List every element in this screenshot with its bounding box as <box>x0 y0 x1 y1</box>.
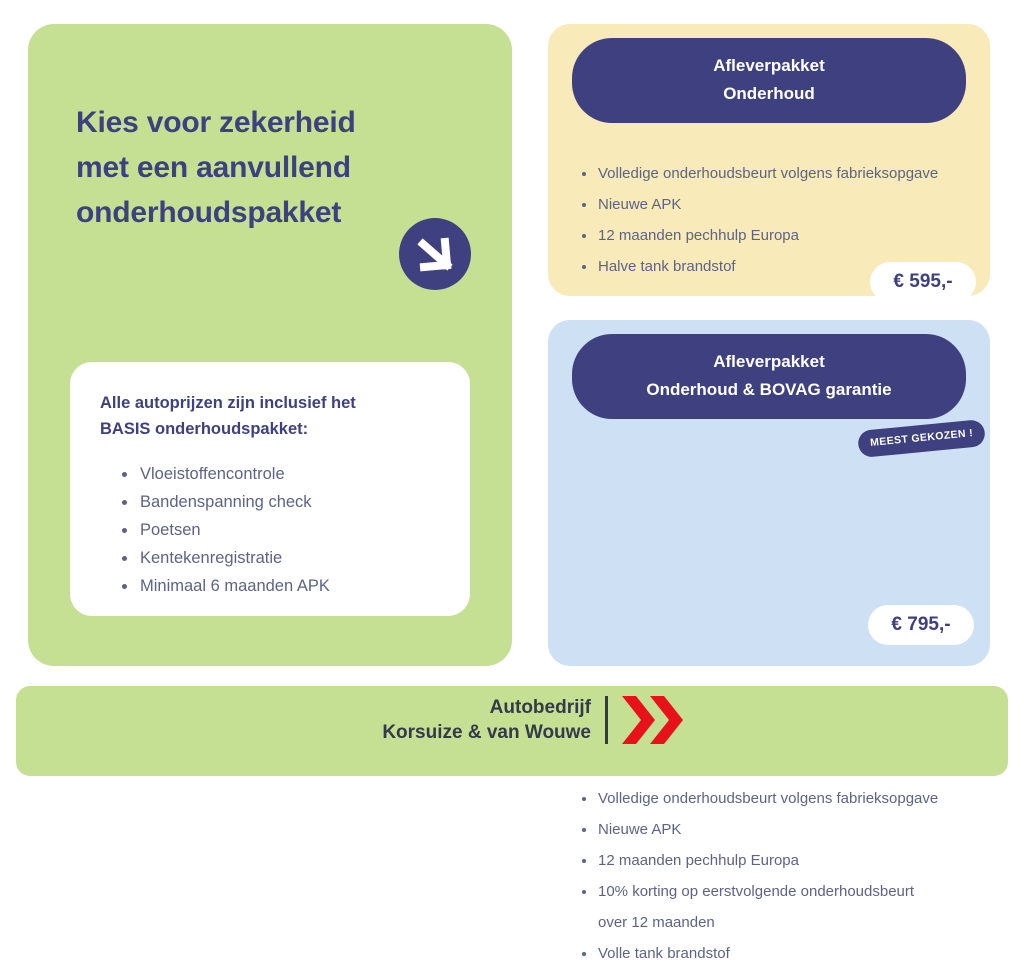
list-item: Volledige onderhoudsbeurt volgens fabrie… <box>578 783 978 814</box>
basis-title-line-1: Alle autoprijzen zijn inclusief het <box>100 390 440 416</box>
logo-divider <box>605 696 608 744</box>
logo-line-2: Korsuize & van Wouwe <box>382 720 591 745</box>
logo-line-1: Autobedrijf <box>382 695 591 720</box>
promo-panel: Kies voor zekerheid met een aanvullend o… <box>28 24 512 666</box>
basis-title-line-2: BASIS onderhoudspakket: <box>100 416 440 442</box>
double-chevron-right-icon <box>622 694 684 746</box>
list-item: Minimaal 6 maanden APK <box>122 572 440 600</box>
list-item-line-2: over 12 maanden <box>598 907 978 938</box>
basis-card-title: Alle autoprijzen zijn inclusief het BASI… <box>100 390 440 442</box>
list-item: Volle tank brandstof <box>578 938 978 969</box>
status-badge-most-chosen: MEEST GEKOZEN ! <box>857 419 986 458</box>
list-item: 12 maanden pechhulp Europa <box>578 845 978 876</box>
package-header-line-2: Onderhoud <box>590 80 948 108</box>
basis-feature-list: Vloeistoffencontrole Bandenspanning chec… <box>100 460 440 600</box>
page-title: Kies voor zekerheid met een aanvullend o… <box>76 100 436 235</box>
headline-line-2: met een aanvullend <box>76 145 436 190</box>
headline-line-3: onderhoudspakket <box>76 190 436 235</box>
headline-line-1: Kies voor zekerheid <box>76 100 436 145</box>
price-badge-onderhoud: € 595,- <box>870 262 976 302</box>
list-item: Nieuwe APK <box>578 189 978 220</box>
footer-bar: Autobedrijf Korsuize & van Wouwe <box>16 686 1008 776</box>
poster-canvas: Kies voor zekerheid met een aanvullend o… <box>0 0 1024 768</box>
list-item: Nieuwe APK <box>578 814 978 845</box>
package-feature-list-onderhoud-bovag: 12 maanden BOVAG garantie Volledige onde… <box>578 752 978 969</box>
list-item: Bandenspanning check <box>122 488 440 516</box>
list-item: 10% korting op eerstvolgende onderhoudsb… <box>578 876 978 938</box>
package-header-line-1: Afleverpakket <box>590 348 948 376</box>
package-header-line-1: Afleverpakket <box>590 52 948 80</box>
company-logo: Autobedrijf Korsuize & van Wouwe <box>16 694 684 746</box>
package-card-onderhoud-bovag[interactable]: Afleverpakket Onderhoud & BOVAG garantie… <box>548 320 990 666</box>
arrow-down-right-icon <box>399 218 471 290</box>
list-item: Poetsen <box>122 516 440 544</box>
list-item: Volledige onderhoudsbeurt volgens fabrie… <box>578 158 978 189</box>
list-item: Kentekenregistratie <box>122 544 440 572</box>
list-item: 12 maanden pechhulp Europa <box>578 220 978 251</box>
list-item-line-1: 10% korting op eerstvolgende onderhoudsb… <box>598 883 914 900</box>
price-badge-onderhoud-bovag: € 795,- <box>868 605 974 645</box>
basis-package-card: Alle autoprijzen zijn inclusief het BASI… <box>70 362 470 616</box>
package-header-onderhoud: Afleverpakket Onderhoud <box>572 38 966 123</box>
package-header-line-2: Onderhoud & BOVAG garantie <box>590 376 948 404</box>
package-header-onderhoud-bovag: Afleverpakket Onderhoud & BOVAG garantie <box>572 334 966 419</box>
company-logo-text: Autobedrijf Korsuize & van Wouwe <box>382 695 591 745</box>
list-item: Vloeistoffencontrole <box>122 460 440 488</box>
package-card-onderhoud[interactable]: Afleverpakket Onderhoud Volledige onderh… <box>548 24 990 296</box>
